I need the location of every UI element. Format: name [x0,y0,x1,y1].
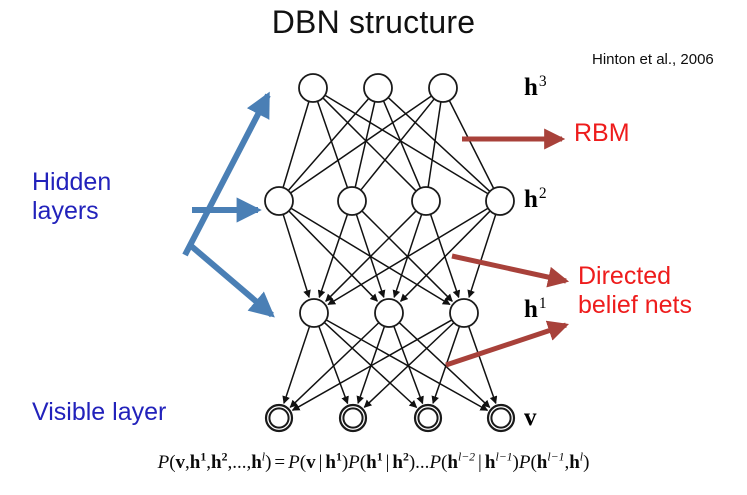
joint-probability-formula: P(v,h1,h2,...,hl)=P(v|h1)P(h1|h2)...P(hl… [0,452,747,474]
node-h1-3 [450,299,478,327]
node-h3-1 [299,74,327,102]
node-h3-3 [429,74,457,102]
blue-annotation-arrows [185,95,272,315]
node-h2-2 [338,187,366,215]
node-h2-3 [412,187,440,215]
arrow-to-h3 [185,95,268,255]
node-h1-1 [300,299,328,327]
slide-canvas: DBN structure Hinton et al., 2006 Hidden… [0,0,747,495]
red-annotation-arrows [446,139,566,365]
arrow-to-h1 [190,245,272,315]
arrow-directed-lower [446,325,566,365]
network-nodes [265,74,514,431]
network-diagram [0,0,747,495]
node-h1-2 [375,299,403,327]
node-h3-2 [364,74,392,102]
edges-rbm-undirected [283,96,493,194]
edges-h1-to-v-directed [284,320,496,410]
arrow-directed-upper [452,256,566,281]
node-h2-1 [265,187,293,215]
node-h2-4 [486,187,514,215]
